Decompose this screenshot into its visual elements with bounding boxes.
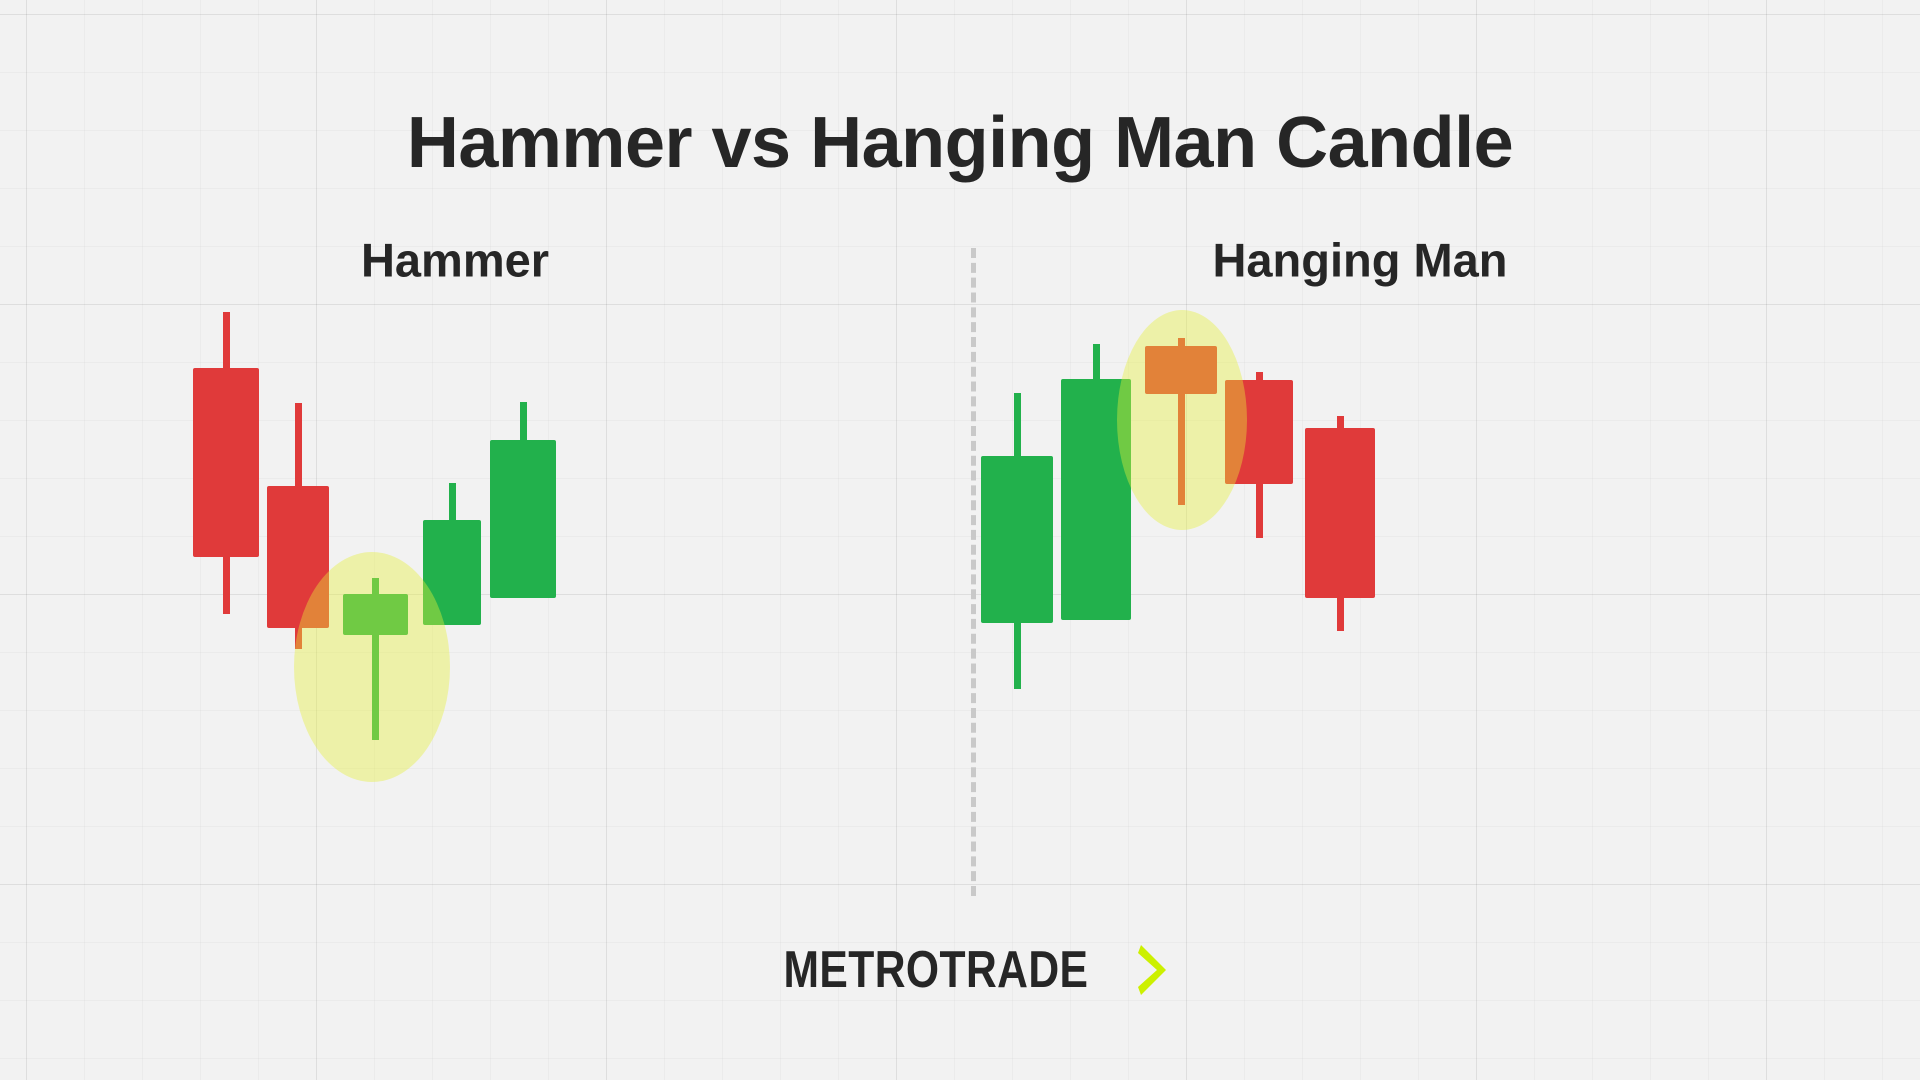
candle-body (1061, 379, 1131, 620)
panel-title-hanging-man: Hanging Man (1000, 233, 1720, 288)
page-title: Hammer vs Hanging Man Candle (0, 102, 1920, 184)
candle-body (1305, 428, 1375, 598)
candle-body (1225, 380, 1293, 484)
candle-body (981, 456, 1053, 623)
panel-divider (971, 248, 976, 896)
panel-title-hammer: Hammer (160, 233, 750, 288)
candle-body (1145, 346, 1217, 394)
brand-logo: METROTRADE (0, 940, 1920, 1000)
infographic-canvas: Hammer vs Hanging Man CandleHammerHangin… (0, 0, 1920, 1080)
chevron-right-icon (1136, 943, 1170, 997)
brand-name: METROTRADE (784, 940, 1089, 1000)
